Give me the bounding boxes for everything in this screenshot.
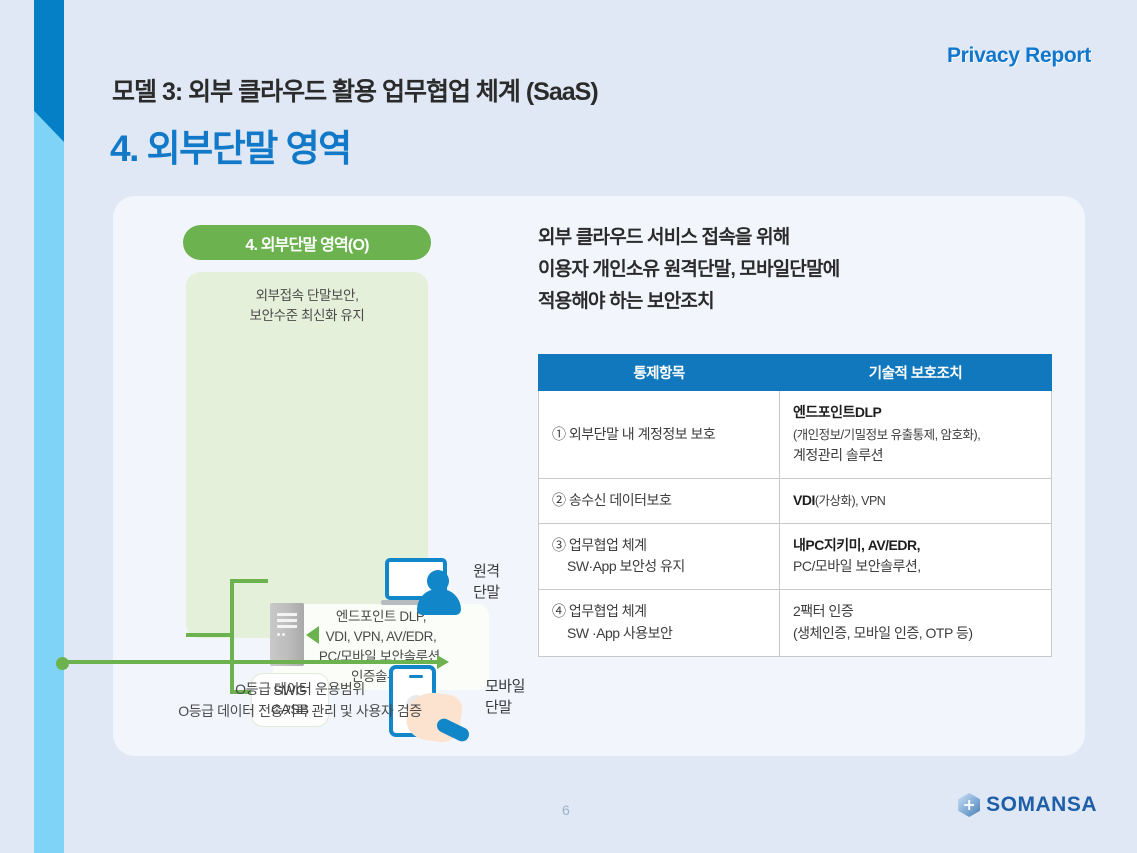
measure-line3: (생체인증, 모바일 인증, OTP 등) (793, 625, 973, 641)
cell-technical-measure: 2팩터 인증 (생체인증, 모바일 인증, OTP 등) (780, 590, 1052, 656)
page-title: 4. 외부단말 영역 (110, 118, 351, 172)
measure-line3: PC/모바일 보안솔루션, (793, 558, 921, 574)
slide-subtitle: 모델 3: 외부 클라우드 활용 업무협업 체계 (SaaS) (112, 72, 598, 108)
control-item-line1: ③ 업무협업 체계 (552, 537, 647, 553)
solutions-line-1: VDI, VPN, AV/EDR, (326, 629, 437, 644)
cell-control-item: ② 송수신 데이터보호 (539, 479, 780, 524)
measure-bold: 엔드포인트DLP (793, 404, 881, 420)
control-item-line1: ① 외부단말 내 계정정보 보호 (552, 426, 715, 442)
table-row: ④ 업무협업 체계 SW ·App 사용보안 2팩터 인증 (생체인증, 모바일… (539, 590, 1052, 656)
column-header-technical-measure: 기술적 보호조치 (780, 355, 1052, 391)
cell-technical-measure: 엔드포인트DLP (개인정보/기밀정보 유출통제, 암호화), 계정관리 솔루션 (780, 391, 1052, 479)
measure-note: (가상화), VPN (815, 494, 885, 508)
cell-control-item: ① 외부단말 내 계정정보 보호 (539, 391, 780, 479)
table-row: ③ 업무협업 체계 SW·App 보안성 유지 내PC지키미, AV/EDR, … (539, 523, 1052, 589)
scope-caption-line1: O등급 데이터 운용범위 (235, 681, 365, 697)
remote-terminal-icon (381, 558, 465, 618)
table-header-row: 통제항목 기술적 보호조치 (539, 355, 1052, 391)
scope-caption: O등급 데이터 운용범위 O등급 데이터 전송기록 관리 및 사용자 검증 (100, 678, 500, 723)
content-card: 4. 외부단말 영역(O) 외부접속 단말보안, 보안수준 최신화 유지 엔드포… (113, 196, 1085, 756)
measure-note: 2팩터 인증 (793, 603, 853, 619)
lead-line2: 이용자 개인소유 원격단말, 모바일단말에 (538, 259, 839, 280)
zone-caption: 외부접속 단말보안, 보안수준 최신화 유지 (186, 286, 428, 325)
zone-caption-line2: 보안수준 최신화 유지 (250, 308, 365, 323)
zone-title-pill: 4. 외부단말 영역(O) (183, 225, 431, 260)
control-item-line1: ② 송수신 데이터보호 (552, 492, 671, 508)
somansa-logo: SOMANSA (958, 793, 1097, 817)
scope-arrow-line (62, 660, 440, 664)
connector-to-server (186, 633, 234, 637)
control-item-line2: SW ·App 사용보안 (552, 623, 766, 645)
scope-arrow-head (437, 655, 449, 669)
cell-control-item: ④ 업무협업 체계 SW ·App 사용보안 (539, 590, 780, 656)
cell-control-item: ③ 업무협업 체계 SW·App 보안성 유지 (539, 523, 780, 589)
remote-label-line2: 단말 (473, 584, 500, 601)
server-icon (270, 603, 304, 666)
privacy-report-badge: Privacy Report (947, 44, 1091, 68)
column-header-control-item: 통제항목 (539, 355, 780, 391)
lead-line1: 외부 클라우드 서비스 접속을 위해 (538, 227, 789, 248)
connector-to-laptop (230, 579, 268, 583)
architecture-diagram: 4. 외부단말 영역(O) 외부접속 단말보안, 보안수준 최신화 유지 엔드포… (113, 196, 533, 756)
table-row: ② 송수신 데이터보호 VDI(가상화), VPN (539, 479, 1052, 524)
arrow-head-to-server (306, 626, 319, 644)
scope-caption-line2: O등급 데이터 전송기록 관리 및 사용자 검증 (178, 703, 422, 719)
zone-caption-line1: 외부접속 단말보안, (256, 288, 359, 303)
cell-technical-measure: 내PC지키미, AV/EDR, PC/모바일 보안솔루션, (780, 523, 1052, 589)
remote-terminal-label: 원격 단말 (473, 561, 500, 603)
somansa-logo-text: SOMANSA (986, 793, 1097, 817)
measure-note: (개인정보/기밀정보 유출통제, 암호화), (793, 428, 980, 442)
measure-bold: VDI (793, 492, 815, 508)
measure-bold: 내PC지키미, AV/EDR, (793, 537, 920, 553)
measure-line3: 계정관리 솔루션 (793, 447, 883, 463)
page-number: 6 (562, 802, 570, 818)
lead-line3: 적용해야 하는 보안조치 (538, 291, 714, 312)
remote-label-line1: 원격 (473, 563, 500, 580)
security-measures-table: 통제항목 기술적 보호조치 ① 외부단말 내 계정정보 보호 엔드포인트DLP … (538, 354, 1052, 657)
somansa-logo-icon (958, 793, 980, 817)
control-item-line1: ④ 업무협업 체계 (552, 603, 647, 619)
table-row: ① 외부단말 내 계정정보 보호 엔드포인트DLP (개인정보/기밀정보 유출통… (539, 391, 1052, 479)
person-body-icon (417, 589, 461, 615)
lead-description: 외부 클라우드 서비스 접속을 위해 이용자 개인소유 원격단말, 모바일단말에… (538, 222, 839, 318)
control-item-line2: SW·App 보안성 유지 (552, 556, 766, 578)
cell-technical-measure: VDI(가상화), VPN (780, 479, 1052, 524)
